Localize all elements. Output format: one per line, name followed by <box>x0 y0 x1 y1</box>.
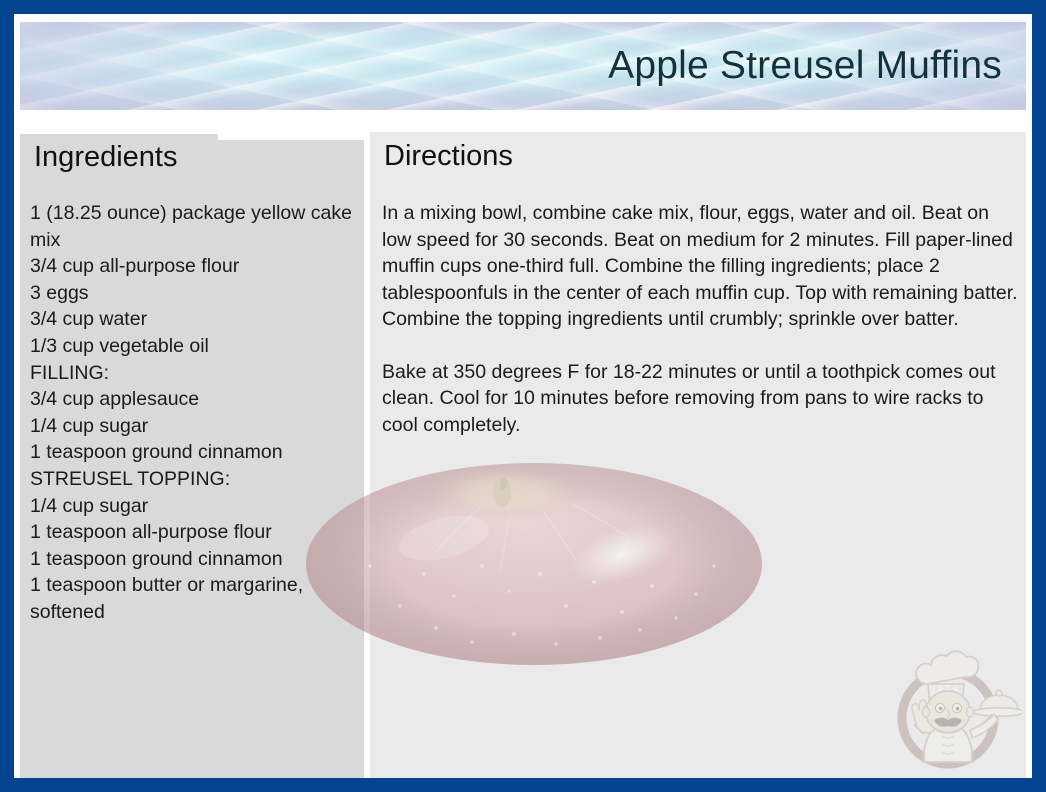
ingredients-heading-tab: Ingredients <box>20 134 218 180</box>
ingredients-heading: Ingredients <box>34 141 178 174</box>
ingredients-list: 1 (18.25 ounce) package yellow cake mix … <box>30 200 354 626</box>
directions-panel: In a mixing bowl, combine cake mix, flou… <box>370 132 1026 778</box>
list-item: 3 eggs <box>30 280 354 307</box>
page-title: Apple Streusel Muffins <box>608 44 1002 88</box>
directions-heading: Directions <box>384 140 513 173</box>
direction-paragraph: Bake at 350 degrees F for 18-22 minutes … <box>382 359 1020 439</box>
list-item: 1/3 cup vegetable oil <box>30 333 354 360</box>
ingredients-panel: 1 (18.25 ounce) package yellow cake mix … <box>20 140 364 778</box>
list-item: FILLING: <box>30 360 354 387</box>
list-item: STREUSEL TOPPING: <box>30 466 354 493</box>
list-item: 1 teaspoon butter or margarine, softened <box>30 572 354 625</box>
list-item: 1 teaspoon all-purpose flour <box>30 519 354 546</box>
list-item: 1/4 cup sugar <box>30 493 354 520</box>
list-item: 1 (18.25 ounce) package yellow cake mix <box>30 200 354 253</box>
slide-canvas: Apple Streusel Muffins 1 (18.25 ounce) p… <box>14 14 1032 778</box>
list-item: 1 teaspoon ground cinnamon <box>30 546 354 573</box>
list-item: 3/4 cup water <box>30 306 354 333</box>
title-banner: Apple Streusel Muffins <box>20 22 1026 110</box>
recipe-slide: Apple Streusel Muffins 1 (18.25 ounce) p… <box>0 0 1046 792</box>
list-item: 1 teaspoon ground cinnamon <box>30 439 354 466</box>
list-item: 1/4 cup sugar <box>30 413 354 440</box>
list-item: 3/4 cup all-purpose flour <box>30 253 354 280</box>
list-item: 3/4 cup applesauce <box>30 386 354 413</box>
directions-body: In a mixing bowl, combine cake mix, flou… <box>382 200 1020 438</box>
directions-heading-tab: Directions <box>370 132 542 180</box>
direction-paragraph: In a mixing bowl, combine cake mix, flou… <box>382 200 1020 333</box>
